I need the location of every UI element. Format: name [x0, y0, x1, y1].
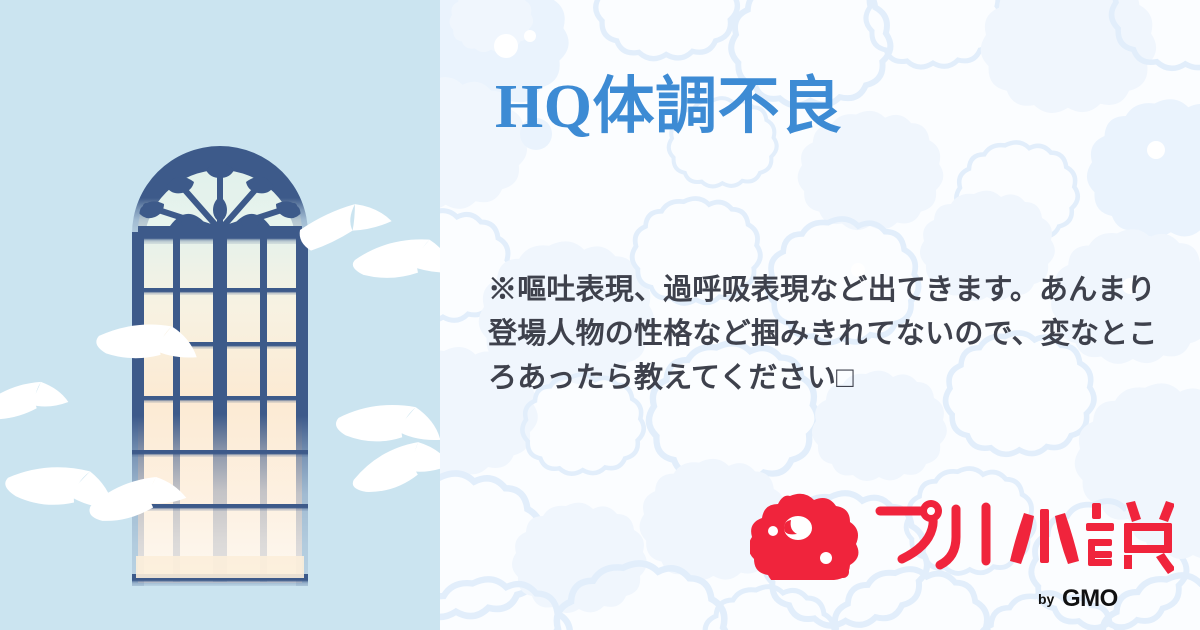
- puri-shousetsu-cloud-bubble-icon: [750, 492, 860, 580]
- page-title: HQ体調不良: [495, 76, 1155, 138]
- cover-illustration-panel: [0, 0, 440, 630]
- arched-window-illustration: [0, 0, 440, 630]
- logo-wordmark-purishousetsu: [874, 495, 1174, 577]
- puri-shousetsu-logo: by GMO: [750, 492, 1174, 610]
- logo-main-row: [750, 492, 1174, 580]
- window-group: [130, 146, 310, 586]
- logo-by-prefix: by: [1038, 591, 1055, 607]
- logo-gmo-text: GMO: [1062, 585, 1118, 610]
- description-text: ※嘔吐表現、過呼吸表現など出てきます。あんまり登場人物の性格など掴みきれてないの…: [488, 268, 1160, 400]
- novel-cover-card: HQ体調不良 ※嘔吐表現、過呼吸表現など出てきます。あんまり登場人物の性格など掴…: [0, 0, 1200, 630]
- cover-content-panel: HQ体調不良 ※嘔吐表現、過呼吸表現など出てきます。あんまり登場人物の性格など掴…: [440, 0, 1200, 630]
- logo-by-gmo: by GMO: [1038, 584, 1170, 610]
